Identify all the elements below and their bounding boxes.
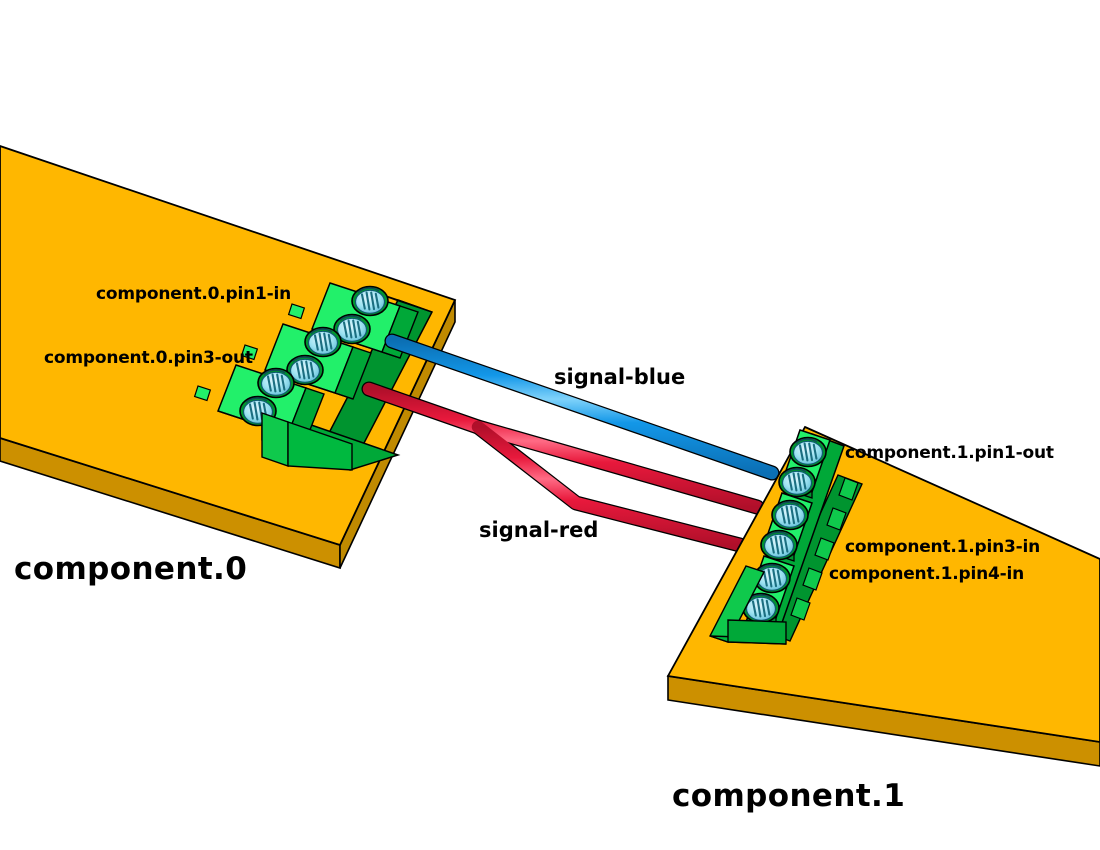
- diagram-canvas: component.0.pin1-in component.0.pin3-out…: [0, 0, 1100, 850]
- signal-label-red: signal-red: [479, 518, 598, 542]
- connector-1-foot-side: [728, 620, 786, 644]
- signal-label-blue: signal-blue: [554, 365, 685, 389]
- board-label-component-0: component.0: [14, 551, 247, 587]
- screw-terminal-2[interactable]: [779, 468, 815, 497]
- pin-label-c0-pin3-out: component.0.pin3-out: [44, 348, 253, 368]
- scene-svg: [0, 0, 1100, 850]
- pin-label-c1-pin1-out: component.1.pin1-out: [845, 443, 1054, 463]
- screw-terminal-5[interactable]: [258, 369, 294, 398]
- pin-label-c1-pin4-in: component.1.pin4-in: [829, 564, 1024, 584]
- connector-0-foot: [262, 413, 288, 466]
- screw-terminal-1[interactable]: [790, 438, 826, 467]
- pin-label-c0-pin1-in: component.0.pin1-in: [96, 284, 291, 304]
- screw-terminal-1[interactable]: [352, 287, 388, 316]
- pin-label-c1-pin3-in: component.1.pin3-in: [845, 537, 1040, 557]
- screw-terminal-3[interactable]: [305, 328, 341, 357]
- screw-terminal-3[interactable]: [772, 501, 808, 530]
- board-label-component-1: component.1: [672, 778, 905, 814]
- screw-terminal-4[interactable]: [761, 531, 797, 560]
